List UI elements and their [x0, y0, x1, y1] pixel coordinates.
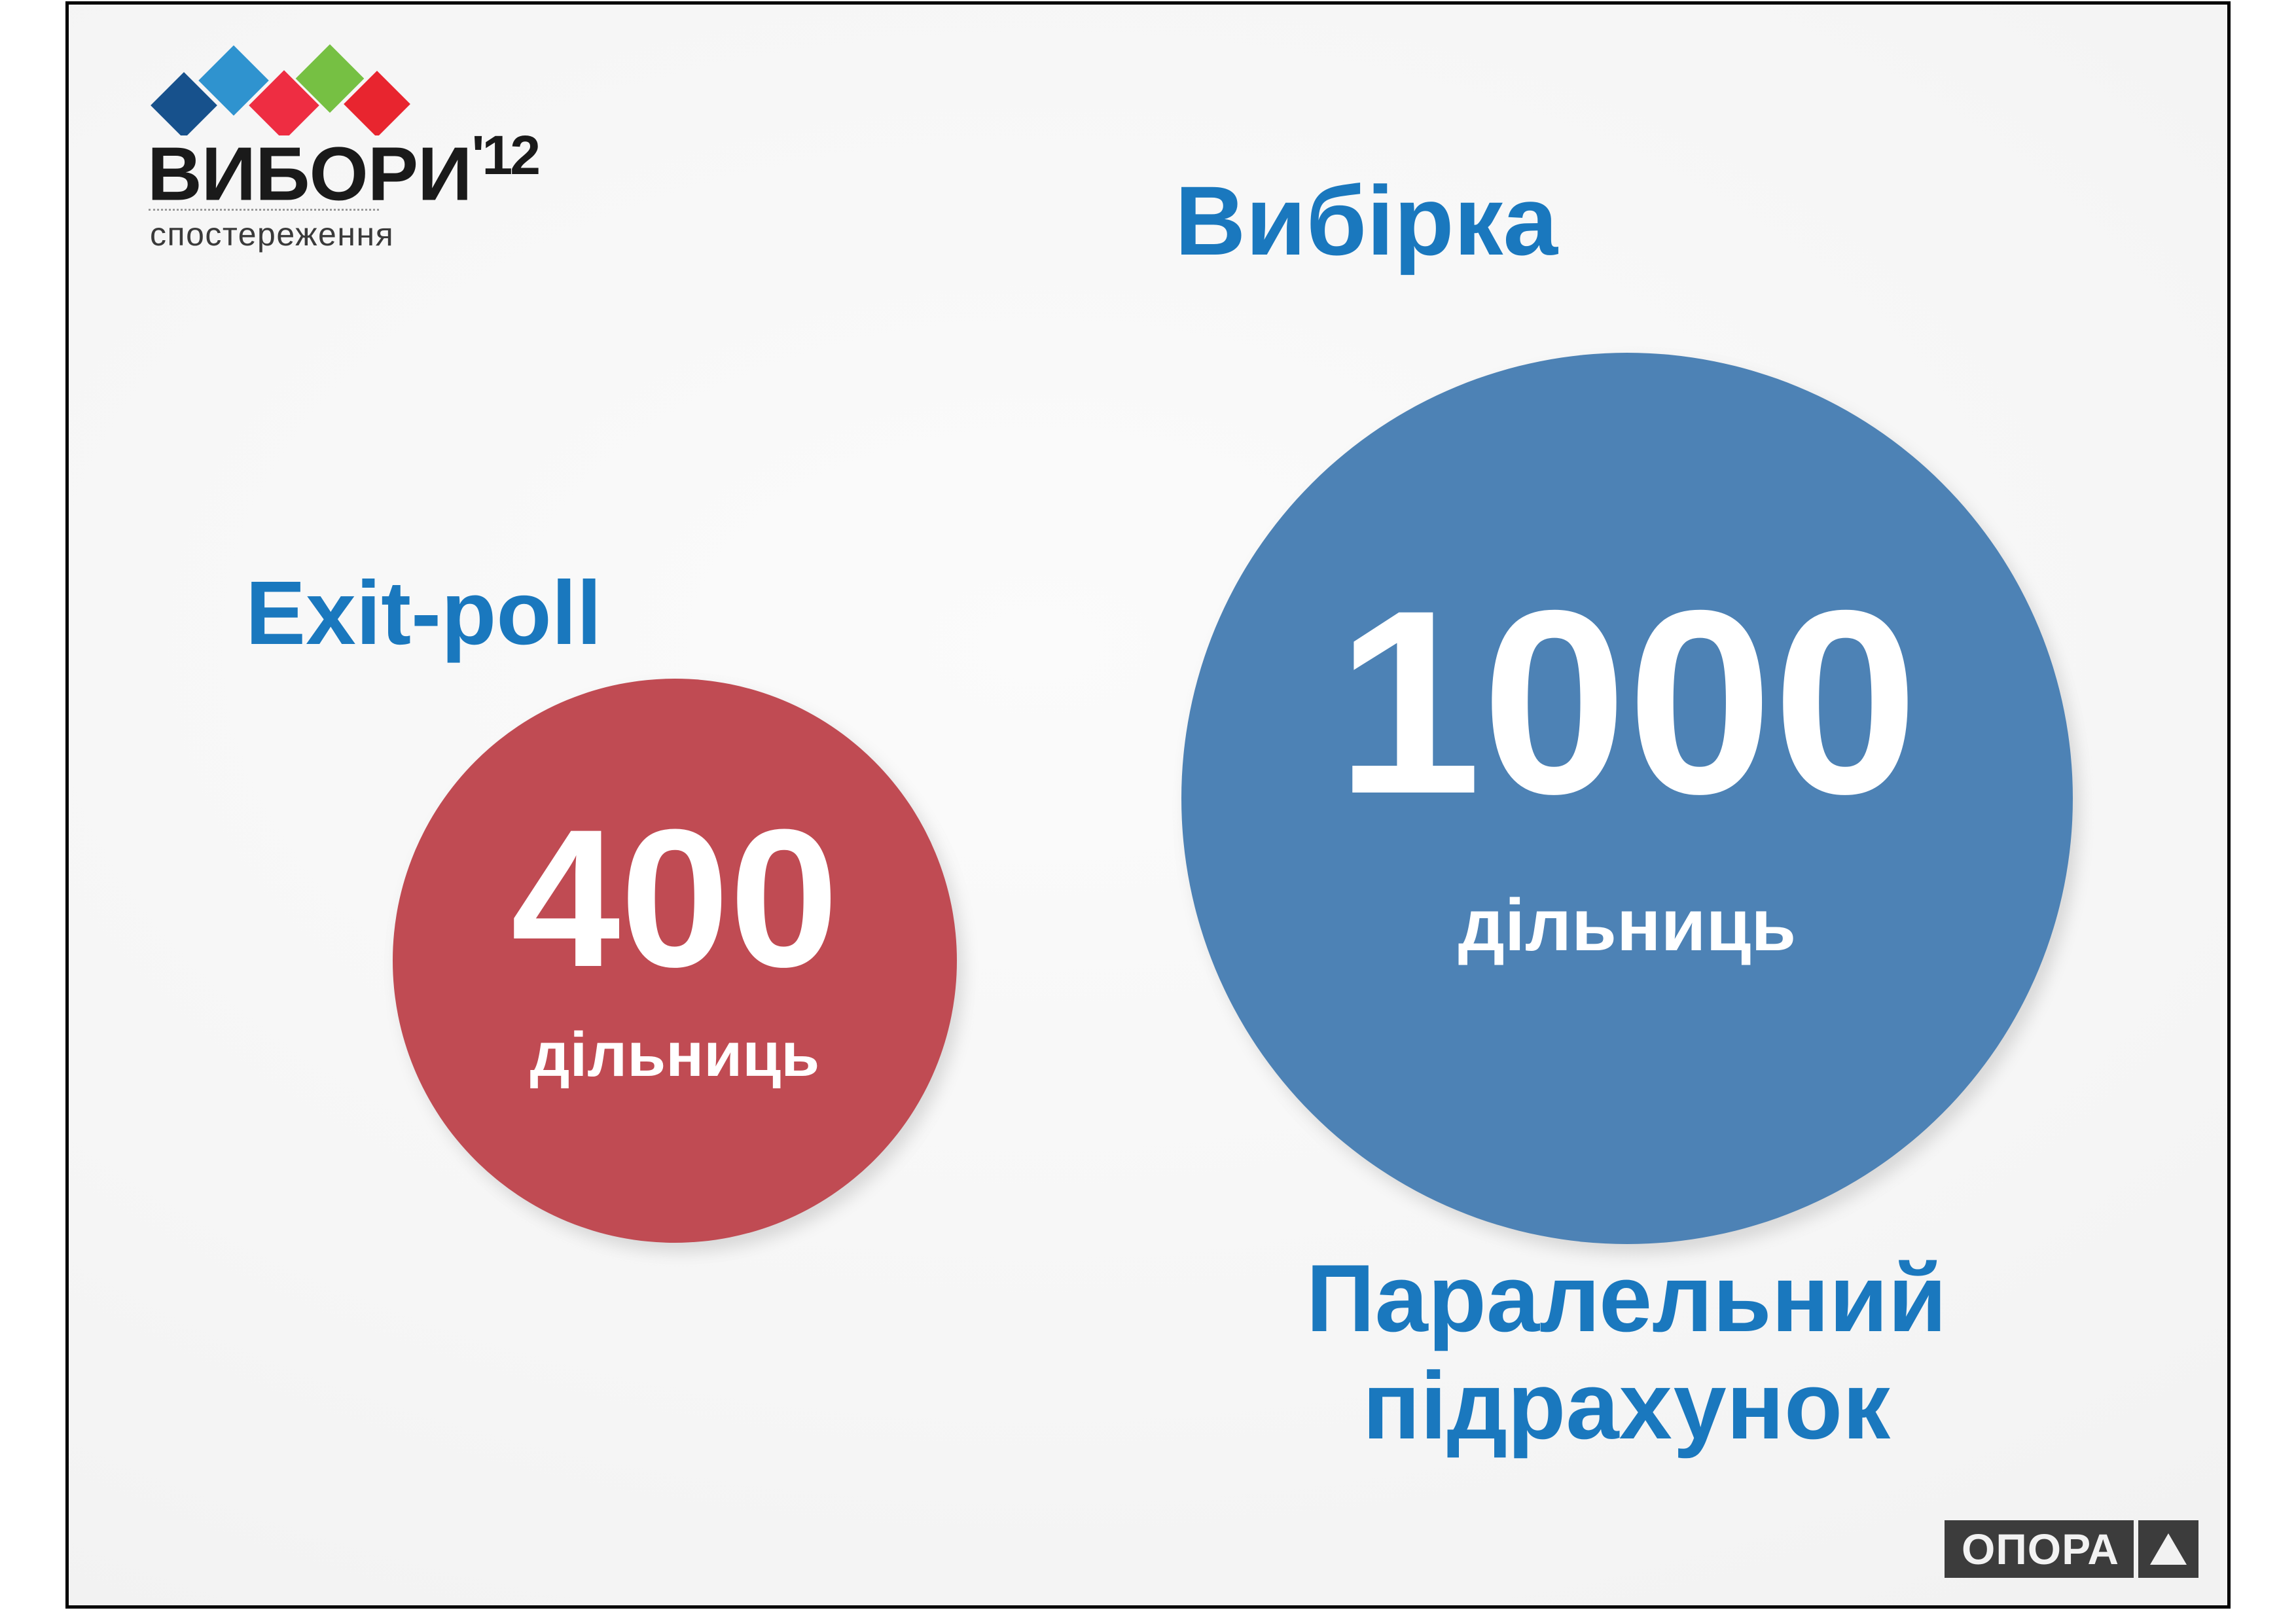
bubble-parallel-count-value: 1000 — [1336, 578, 1918, 827]
heading-parallel-line2: підрахунок — [1286, 1352, 1967, 1459]
logo-wordmark: ВИБОРИ'12 — [147, 128, 422, 212]
opora-logo: ОПОРА — [1945, 1520, 2198, 1578]
heading-sample: Вибірка — [1175, 166, 1558, 276]
opora-mark — [2138, 1520, 2198, 1578]
brand-logo: ВИБОРИ'12 спостереження — [141, 31, 422, 293]
logo-diamonds-icon — [141, 31, 422, 135]
heading-parallel-count: Паралельний підрахунок — [1286, 1245, 1967, 1459]
bubble-parallel-count: 1000 дільниць — [1181, 353, 2073, 1244]
bubble-parallel-count-unit: дільниць — [1458, 883, 1796, 967]
logo-year: '12 — [472, 124, 538, 186]
logo-divider — [149, 209, 379, 211]
heading-parallel-line1: Паралельний — [1306, 1245, 1947, 1351]
slide-frame: ВИБОРИ'12 спостереження Вибірка Exit-pol… — [65, 1, 2231, 1609]
opora-wordmark: ОПОРА — [1945, 1520, 2134, 1578]
bubble-exit-poll-value: 400 — [511, 805, 839, 991]
triangle-icon — [2150, 1533, 2187, 1565]
bubble-exit-poll-unit: дільниць — [530, 1019, 820, 1091]
logo-subtitle: спостереження — [150, 215, 394, 253]
logo-wordmark-text: ВИБОРИ — [147, 132, 472, 217]
bubble-exit-poll: 400 дільниць — [393, 679, 957, 1243]
heading-exit-poll: Exit-poll — [245, 563, 601, 664]
